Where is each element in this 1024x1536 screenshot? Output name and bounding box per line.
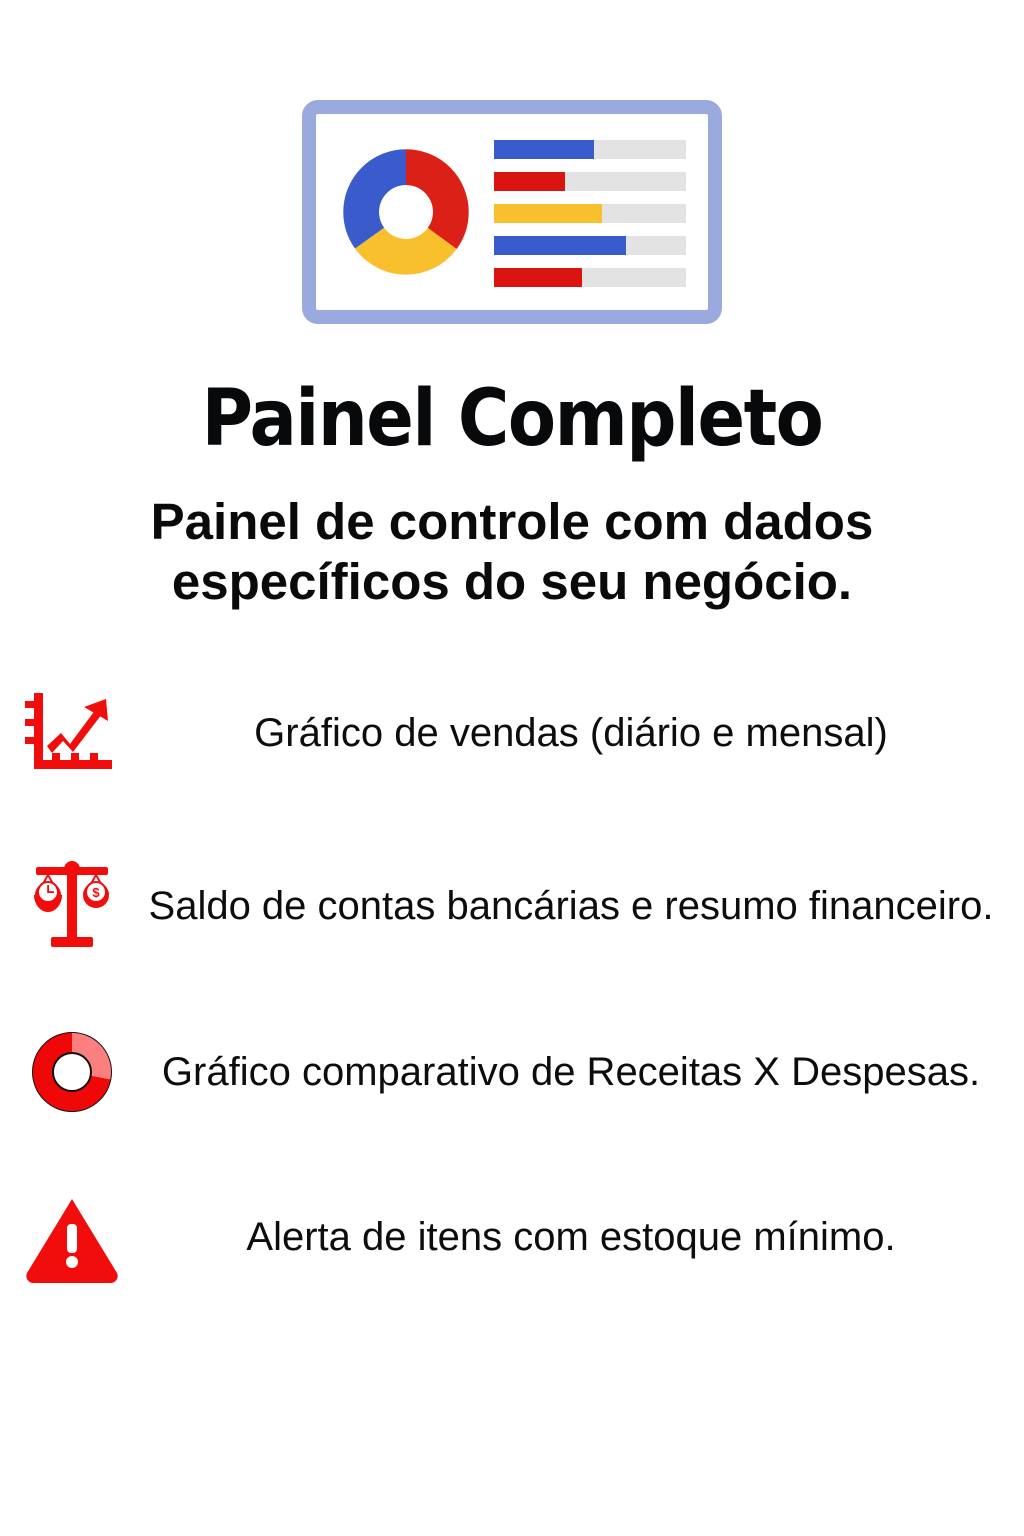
line-chart-up-icon xyxy=(8,681,136,785)
feature-label: Alerta de itens com estoque mínimo. xyxy=(136,1213,1024,1262)
feature-label: Gráfico comparativo de Receitas X Despes… xyxy=(136,1048,1024,1097)
bar-fill-5 xyxy=(494,268,582,287)
bar-row xyxy=(494,236,686,255)
feature-item-sales-chart: Gráfico de vendas (diário e mensal) xyxy=(0,674,1024,792)
feature-list: Gráfico de vendas (diário e mensal) xyxy=(0,674,1024,1296)
donut-chart-icon xyxy=(8,1020,136,1124)
bar-fill-4 xyxy=(494,236,626,255)
promo-page: Painel Completo Painel de controle com d… xyxy=(0,0,1024,1536)
bar-row xyxy=(494,204,686,223)
feature-item-stock-alert: Alerta de itens com estoque mínimo. xyxy=(0,1178,1024,1296)
bar-row xyxy=(494,172,686,191)
feature-label: Gráfico de vendas (diário e mensal) xyxy=(136,709,1024,758)
bar-row xyxy=(494,140,686,159)
feature-label: Saldo de contas bancárias e resumo finan… xyxy=(136,882,1024,931)
dashboard-illustration xyxy=(302,100,722,324)
page-subtitle: Painel de controle com dados específicos… xyxy=(77,492,947,612)
balance-scale-icon: $ xyxy=(8,854,136,958)
bar-row xyxy=(494,268,686,287)
bar-fill-1 xyxy=(494,140,594,159)
bar-list-illustration xyxy=(494,138,686,287)
bar-fill-3 xyxy=(494,204,602,223)
warning-triangle-icon xyxy=(8,1185,136,1289)
bar-fill-2 xyxy=(494,172,565,191)
feature-item-bank-balance: $ Saldo de contas bancárias e resumo fin… xyxy=(0,836,1024,976)
page-title: Painel Completo xyxy=(202,380,823,458)
feature-item-revenue-expense-chart: Gráfico comparativo de Receitas X Despes… xyxy=(0,1002,1024,1142)
svg-text:$: $ xyxy=(92,885,100,900)
donut-chart-illustration xyxy=(342,148,470,276)
